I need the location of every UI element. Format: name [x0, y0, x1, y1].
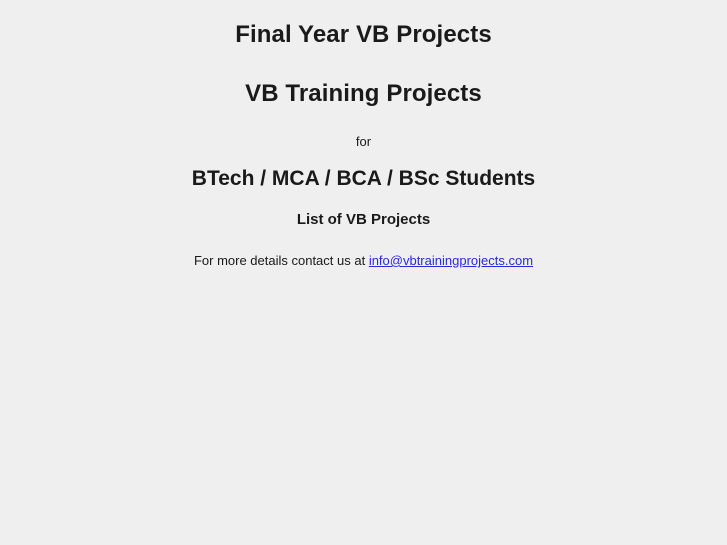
contact-prefix-text: For more details contact us at [194, 253, 369, 268]
contact-line: For more details contact us at info@vbtr… [0, 229, 727, 269]
page-title-secondary: VB Training Projects [0, 56, 727, 115]
contact-email-link[interactable]: info@vbtrainingprojects.com [369, 253, 533, 268]
page-container: Final Year VB Projects VB Training Proje… [0, 0, 727, 545]
project-list-heading: List of VB Projects [0, 190, 727, 229]
connector-text: for [0, 116, 727, 150]
audience-heading: BTech / MCA / BCA / BSc Students [0, 149, 727, 190]
page-title-primary: Final Year VB Projects [0, 14, 727, 56]
